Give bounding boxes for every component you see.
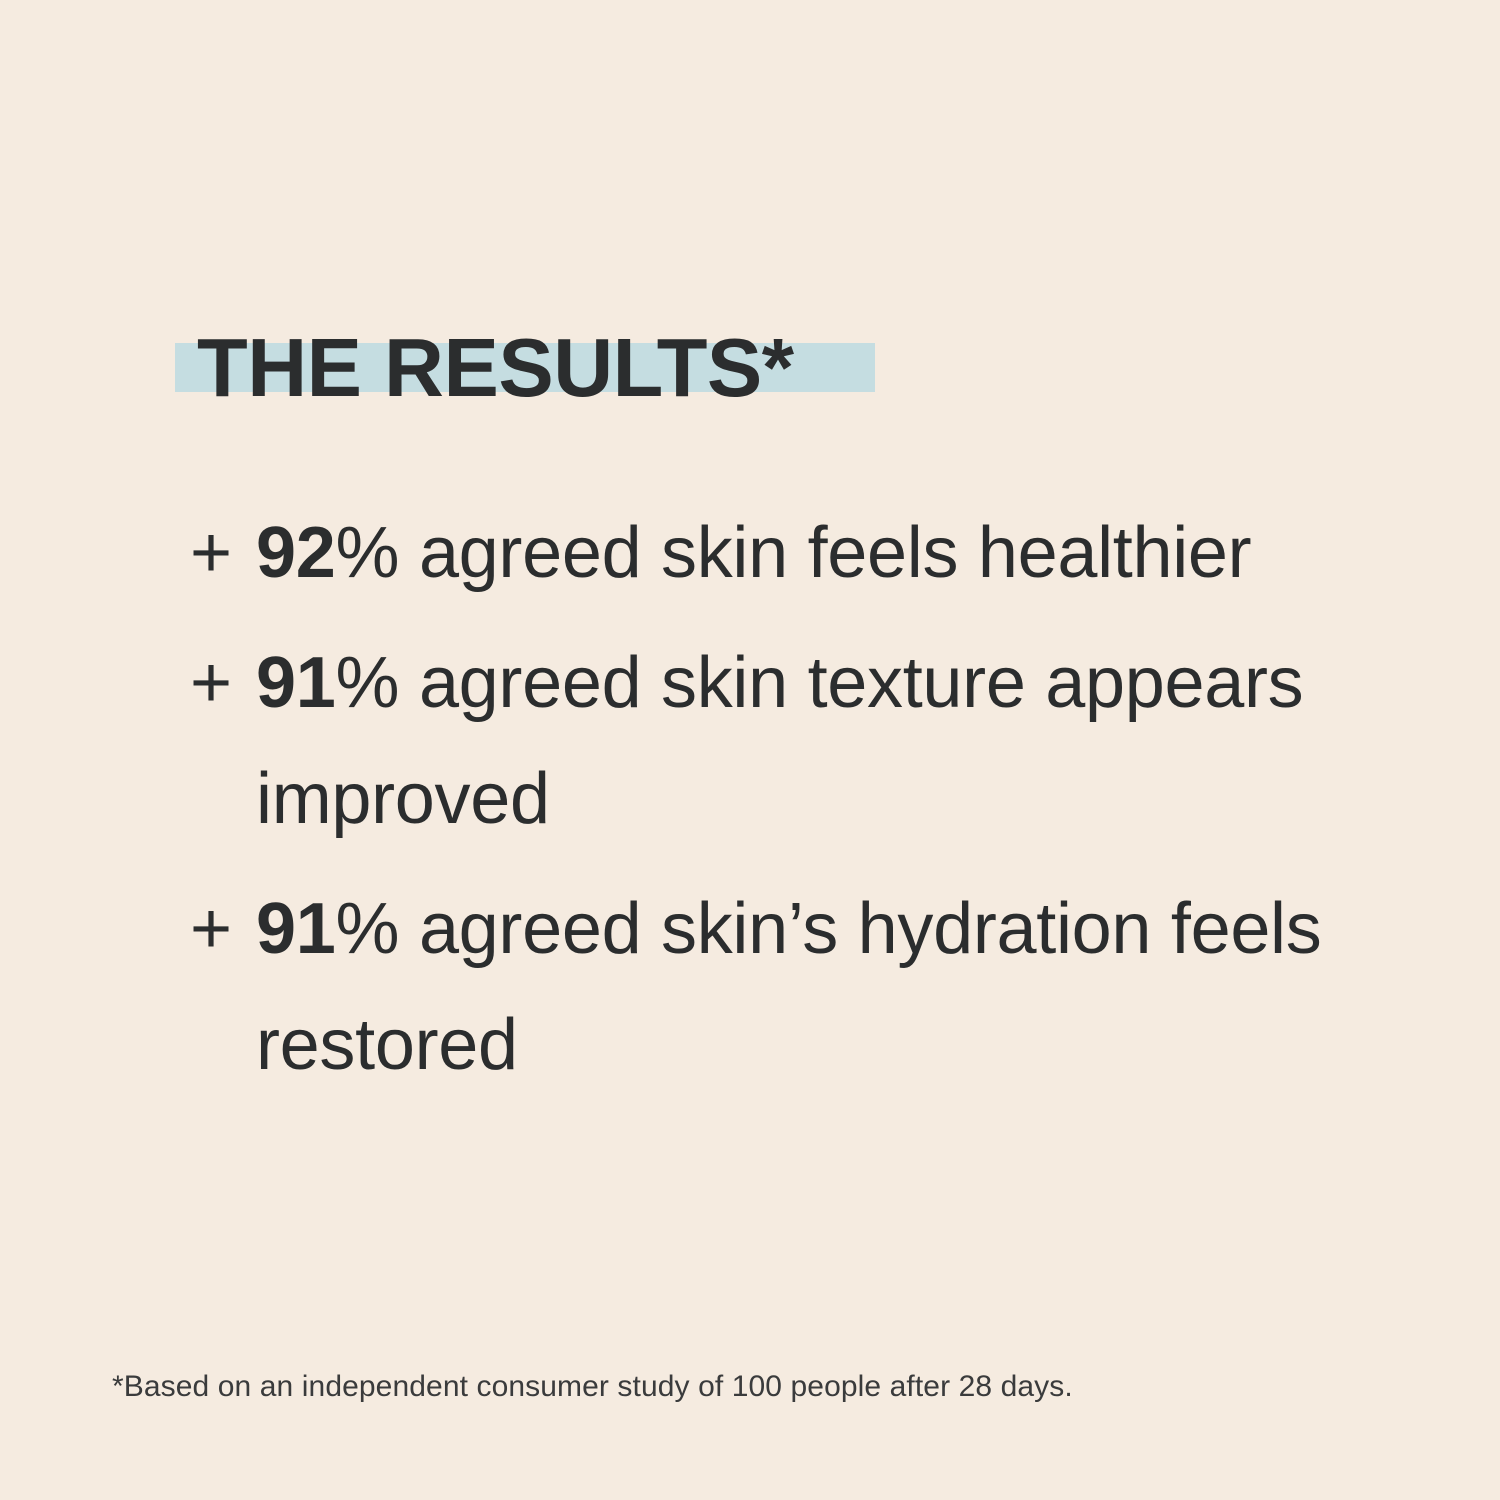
page-title-text: THE RESULTS* xyxy=(197,321,794,414)
result-claim-text: agreed skin feels healthier xyxy=(399,513,1251,593)
results-card: THE RESULTS* +92% agreed skin feels heal… xyxy=(0,0,1500,1500)
plus-icon: + xyxy=(190,625,232,741)
list-item: +92% agreed skin feels healthier xyxy=(190,495,1410,611)
plus-icon: + xyxy=(190,871,232,987)
list-item: +91% agreed skin’s hydration feels resto… xyxy=(190,871,1410,1103)
page-title: THE RESULTS* xyxy=(175,318,794,418)
result-claim-text: agreed skin texture appears improved xyxy=(256,643,1303,839)
result-percentage-value: 91 xyxy=(256,643,336,723)
footnote-disclaimer: *Based on an independent consumer study … xyxy=(112,1367,1073,1407)
result-claim-text: agreed skin’s hydration feels restored xyxy=(256,889,1321,1085)
result-percent-sign: % xyxy=(336,513,400,593)
page-title-container: THE RESULTS* xyxy=(175,318,794,418)
results-list: +92% agreed skin feels healthier +91% ag… xyxy=(190,495,1410,1103)
result-percent-sign: % xyxy=(336,889,400,969)
result-percent-sign: % xyxy=(336,643,400,723)
result-percentage-value: 91 xyxy=(256,889,336,969)
plus-icon: + xyxy=(190,495,232,611)
list-item: +91% agreed skin texture appears improve… xyxy=(190,625,1410,857)
result-percentage-value: 92 xyxy=(256,513,336,593)
